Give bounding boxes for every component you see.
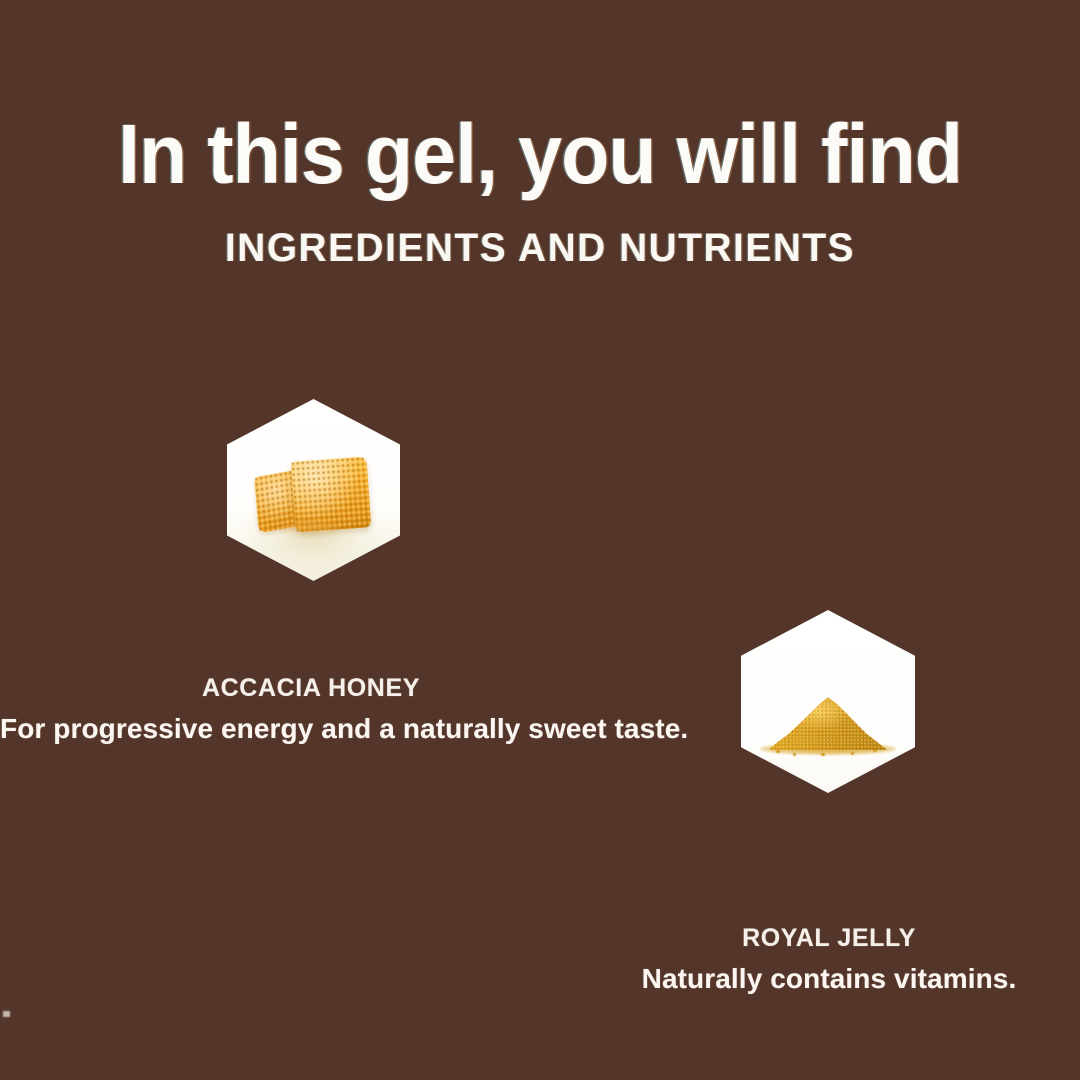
ingredient-caption-honey: ACCACIA HONEY For progressive energy and… (0, 672, 622, 746)
ingredient-caption-jelly: ROYAL JELLY Naturally contains vitamins. (630, 922, 1028, 996)
ingredient-description: For progressive energy and a naturally s… (0, 712, 622, 746)
page-title: In this gel, you will find (32, 106, 1047, 202)
ingredient-name: ROYAL JELLY (630, 922, 1028, 954)
page-subtitle: INGREDIENTS AND NUTRIENTS (16, 224, 1064, 272)
ingredients-poster: In this gel, you will find INGREDIENTS A… (0, 0, 1080, 1080)
ingredient-description: Naturally contains vitamins. (630, 962, 1028, 996)
ingredient-name: ACCACIA HONEY (0, 672, 622, 704)
powder-mound-icon (741, 610, 915, 793)
powder-mound-shape (769, 695, 887, 750)
powder-speck (776, 750, 780, 753)
honeycomb-icon (227, 399, 400, 581)
powder-speck (821, 753, 825, 756)
corner-artifact-mark (3, 1011, 10, 1017)
powder-speck (851, 752, 854, 755)
powder-speck (793, 753, 796, 756)
honey-drip (281, 521, 338, 537)
heading-block: In this gel, you will find INGREDIENTS A… (0, 106, 1080, 272)
